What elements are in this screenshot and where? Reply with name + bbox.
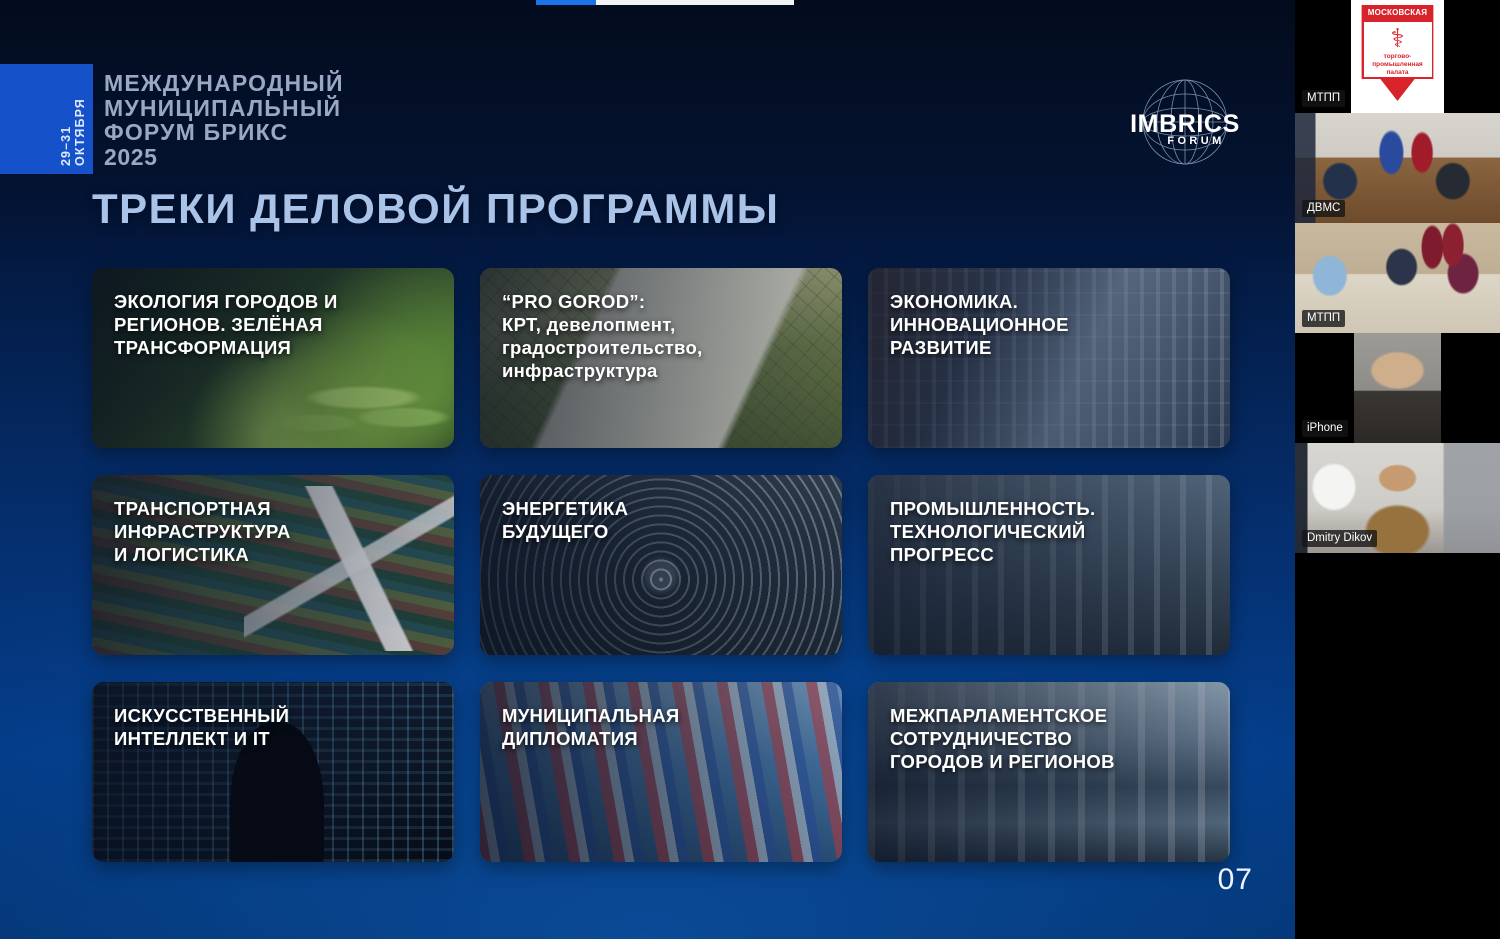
participant-strip: МОСКОВСКАЯ ⚕ торгово-промышленнаяпалата … bbox=[1295, 0, 1500, 939]
card-label: МЕЖПАРЛАМЕНТСКОЕ СОТРУДНИЧЕСТВО ГОРОДОВ … bbox=[890, 704, 1214, 773]
logo-bottom-text: торгово-промышленнаяпалата bbox=[1363, 53, 1433, 77]
track-card-industry[interactable]: ПРОМЫШЛЕННОСТЬ. ТЕХНОЛОГИЧЕСКИЙ ПРОГРЕСС bbox=[868, 475, 1230, 655]
page-title: ТРЕКИ ДЕЛОВОЙ ПРОГРАММЫ bbox=[92, 185, 779, 233]
participant-name: iPhone bbox=[1302, 420, 1348, 437]
card-label: ИСКУССТВЕННЫЙ ИНТЕЛЛЕКТ И IT bbox=[114, 704, 438, 750]
shield-icon: МОСКОВСКАЯ ⚕ торгово-промышленнаяпалата bbox=[1359, 5, 1437, 105]
forum-year: 2025 bbox=[104, 145, 344, 170]
card-label: “PRO GOROD”: КРТ, девелопмент, градостро… bbox=[502, 290, 826, 382]
track-card-ecology[interactable]: ЭКОЛОГИЯ ГОРОДОВ И РЕГИОНОВ. ЗЕЛЁНАЯ ТРА… bbox=[92, 268, 454, 448]
card-label: ЭКОЛОГИЯ ГОРОДОВ И РЕГИОНОВ. ЗЕЛЁНАЯ ТРА… bbox=[114, 290, 438, 359]
presentation-slide: 29–31 ОКТЯБРЯ МЕЖДУНАРОДНЫЙ МУНИЦИПАЛЬНЫ… bbox=[0, 0, 1295, 939]
participant-name: МТПП bbox=[1302, 310, 1345, 327]
track-card-transport[interactable]: ТРАНСПОРТНАЯ ИНФРАСТРУКТУРА И ЛОГИСТИКА bbox=[92, 475, 454, 655]
participant-tile-dvms[interactable]: ДВМС bbox=[1295, 113, 1500, 223]
participant-tile-dmitry-dikov[interactable]: Dmitry Dikov bbox=[1295, 443, 1500, 553]
forum-logo: 29–31 ОКТЯБРЯ МЕЖДУНАРОДНЫЙ МУНИЦИПАЛЬНЫ… bbox=[0, 64, 344, 174]
forum-title-line-1: МЕЖДУНАРОДНЫЙ bbox=[104, 71, 344, 96]
track-card-municipal-diplomacy[interactable]: МУНИЦИПАЛЬНАЯ ДИПЛОМАТИЯ bbox=[480, 682, 842, 862]
imbrics-subtitle: FORUM bbox=[1125, 135, 1245, 147]
app-toolbar-sliver bbox=[536, 0, 794, 5]
participant-tile-mtpp-logo[interactable]: МОСКОВСКАЯ ⚕ торгово-промышленнаяпалата … bbox=[1295, 0, 1500, 113]
card-label: ТРАНСПОРТНАЯ ИНФРАСТРУКТУРА И ЛОГИСТИКА bbox=[114, 497, 438, 566]
toolbar-light-segment bbox=[596, 0, 794, 5]
card-label: ПРОМЫШЛЕННОСТЬ. ТЕХНОЛОГИЧЕСКИЙ ПРОГРЕСС bbox=[890, 497, 1214, 566]
logo-top-text: МОСКОВСКАЯ bbox=[1359, 8, 1437, 17]
participant-tile-mtpp-meeting[interactable]: МТПП bbox=[1295, 223, 1500, 333]
participant-name: Dmitry Dikov bbox=[1302, 530, 1377, 547]
caduceus-icon: ⚕ bbox=[1359, 25, 1437, 51]
toolbar-accent-segment bbox=[536, 0, 596, 5]
track-card-pro-gorod[interactable]: “PRO GOROD”: КРТ, девелопмент, градостро… bbox=[480, 268, 842, 448]
track-card-grid: ЭКОЛОГИЯ ГОРОДОВ И РЕГИОНОВ. ЗЕЛЁНАЯ ТРА… bbox=[92, 268, 1252, 862]
screen-root: 29–31 ОКТЯБРЯ МЕЖДУНАРОДНЫЙ МУНИЦИПАЛЬНЫ… bbox=[0, 0, 1500, 939]
mtpp-chamber-logo-icon: МОСКОВСКАЯ ⚕ торгово-промышленнаяпалата bbox=[1351, 0, 1444, 113]
participant-name: МТПП bbox=[1302, 90, 1345, 107]
track-card-ai-it[interactable]: ИСКУССТВЕННЫЙ ИНТЕЛЛЕКТ И IT bbox=[92, 682, 454, 862]
track-card-economy[interactable]: ЭКОНОМИКА. ИННОВАЦИОННОЕ РАЗВИТИЕ bbox=[868, 268, 1230, 448]
forum-title-line-3: ФОРУМ БРИКС bbox=[104, 120, 344, 145]
slide-page-number: 07 bbox=[1218, 863, 1253, 897]
forum-date-text: 29–31 ОКТЯБРЯ bbox=[59, 64, 87, 166]
forum-title-line-2: МУНИЦИПАЛЬНЫЙ bbox=[104, 96, 344, 121]
participant-strip-empty-area bbox=[1295, 553, 1500, 932]
card-label: ЭНЕРГЕТИКА БУДУЩЕГО bbox=[502, 497, 826, 543]
participant-tile-iphone[interactable]: iPhone bbox=[1295, 333, 1500, 443]
forum-date-badge: 29–31 ОКТЯБРЯ bbox=[0, 64, 93, 174]
track-card-interparliamentary[interactable]: МЕЖПАРЛАМЕНТСКОЕ СОТРУДНИЧЕСТВО ГОРОДОВ … bbox=[868, 682, 1230, 862]
card-label: МУНИЦИПАЛЬНАЯ ДИПЛОМАТИЯ bbox=[502, 704, 826, 750]
participant-name: ДВМС bbox=[1302, 200, 1345, 217]
forum-title-block: МЕЖДУНАРОДНЫЙ МУНИЦИПАЛЬНЫЙ ФОРУМ БРИКС … bbox=[104, 71, 344, 169]
imbrics-logo: IMBRICS FORUM bbox=[1125, 72, 1245, 172]
track-card-energy[interactable]: ЭНЕРГЕТИКА БУДУЩЕГО bbox=[480, 475, 842, 655]
card-label: ЭКОНОМИКА. ИННОВАЦИОННОЕ РАЗВИТИЕ bbox=[890, 290, 1214, 359]
